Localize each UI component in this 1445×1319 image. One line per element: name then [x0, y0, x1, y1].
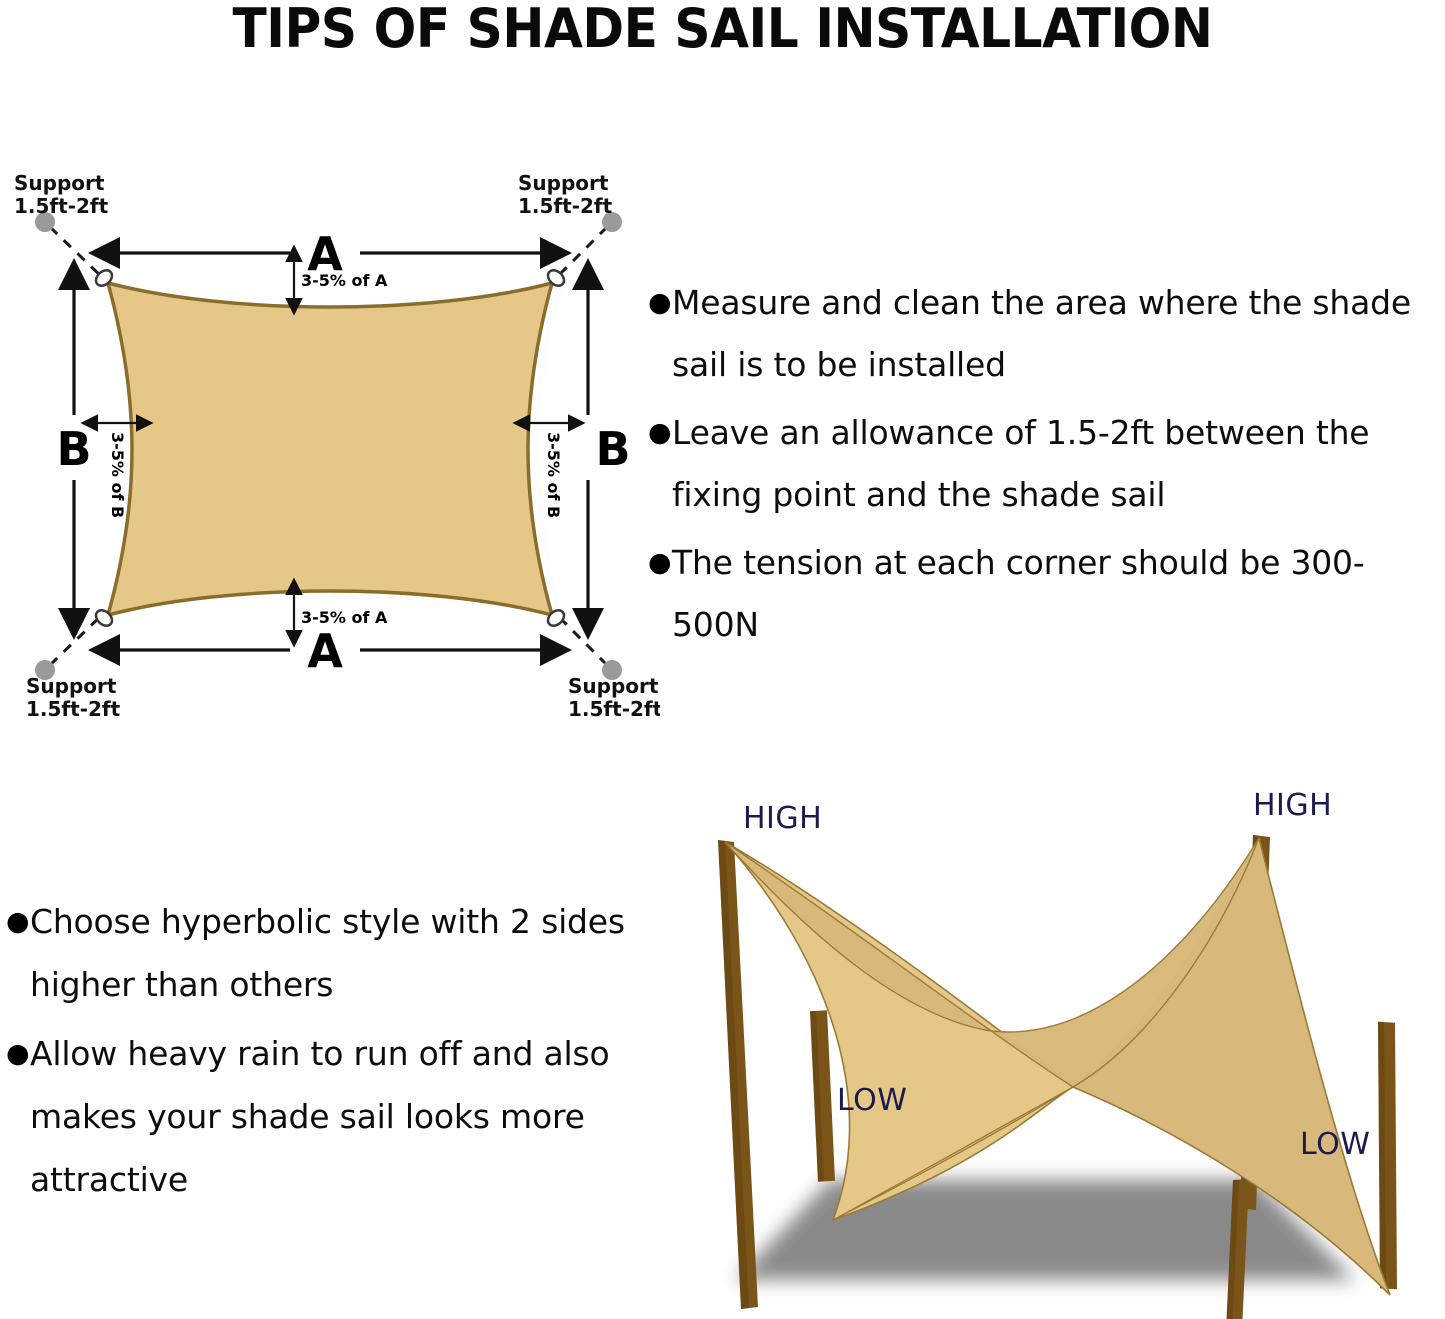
list-item: ● The tension at each corner should be 3…	[648, 532, 1445, 656]
support-label-top-left-line1: Support	[14, 171, 105, 195]
list-item: ● Leave an allowance of 1.5-2ft between …	[648, 402, 1445, 526]
support-label-top-right-line1: Support	[518, 171, 609, 195]
support-label-bottom-right-line1: Support	[568, 674, 659, 698]
shade-sail-shape	[108, 283, 552, 615]
style-tip-text: Allow heavy rain to run off and also mak…	[30, 1022, 626, 1211]
dimension-letter-b-left: B	[56, 422, 91, 476]
list-item: ● Choose hyperbolic style with 2 sides h…	[6, 890, 626, 1016]
label-low-left: LOW	[837, 1083, 907, 1118]
support-label-bottom-left-line2: 1.5ft-2ft	[26, 697, 121, 721]
style-tip-text: Choose hyperbolic style with 2 sides hig…	[30, 890, 626, 1016]
dimension-bottom-curve-note: 3-5% of A	[294, 595, 388, 630]
support-label-bottom-left: Support 1.5ft-2ft	[26, 674, 121, 721]
dimension-letter-b-right: B	[595, 422, 630, 476]
bullet-dot-icon: ●	[648, 402, 672, 464]
tip-text: Leave an allowance of 1.5-2ft between th…	[672, 402, 1445, 526]
hyperbolic-sail-illustration: HIGH HIGH LOW LOW	[655, 780, 1445, 1319]
label-high-right: HIGH	[1253, 788, 1332, 823]
label-low-right: LOW	[1300, 1127, 1370, 1162]
style-tips-list: ● Choose hyperbolic style with 2 sides h…	[6, 890, 626, 1217]
support-label-bottom-left-line1: Support	[26, 674, 117, 698]
dimension-right-height: B	[588, 290, 631, 608]
dimension-letter-a-bottom: A	[307, 624, 343, 678]
support-label-top-left: Support 1.5ft-2ft	[14, 171, 109, 218]
support-label-bottom-right: Support 1.5ft-2ft	[568, 674, 660, 721]
page-title: TIPS OF SHADE SAIL INSTALLATION	[51, 0, 1395, 60]
dimension-diagram: A 3-5% of A A 3-5% of A B 3-5% of B	[0, 160, 660, 730]
bullet-dot-icon: ●	[648, 272, 672, 334]
tip-text: Measure and clean the area where the sha…	[672, 272, 1445, 396]
bullet-dot-icon: ●	[6, 1022, 30, 1085]
post-low-left	[810, 1010, 835, 1182]
tip-text: The tension at each corner should be 300…	[672, 532, 1445, 656]
ground-shadow	[735, 1180, 1355, 1280]
post-low-right	[1378, 1022, 1397, 1290]
curve-note-bottom: 3-5% of A	[301, 608, 388, 627]
curve-note-top: 3-5% of A	[301, 271, 388, 290]
curve-note-left: 3-5% of B	[108, 432, 127, 518]
support-label-top-right: Support 1.5ft-2ft	[518, 171, 613, 218]
support-label-top-right-line2: 1.5ft-2ft	[518, 194, 613, 218]
curve-note-right: 3-5% of B	[544, 432, 563, 518]
support-label-bottom-right-line2: 1.5ft-2ft	[568, 697, 660, 721]
bullet-dot-icon: ●	[6, 890, 30, 953]
label-high-left: HIGH	[743, 801, 822, 836]
list-item: ● Allow heavy rain to run off and also m…	[6, 1022, 626, 1211]
bullet-dot-icon: ●	[648, 532, 672, 594]
support-label-top-left-line2: 1.5ft-2ft	[14, 194, 109, 218]
list-item: ● Measure and clean the area where the s…	[648, 272, 1445, 396]
post-high-left	[718, 840, 758, 1309]
dimension-bottom-width: A	[120, 624, 540, 678]
installation-tips-list: ● Measure and clean the area where the s…	[648, 272, 1445, 662]
dimension-left-height: B	[56, 290, 91, 608]
